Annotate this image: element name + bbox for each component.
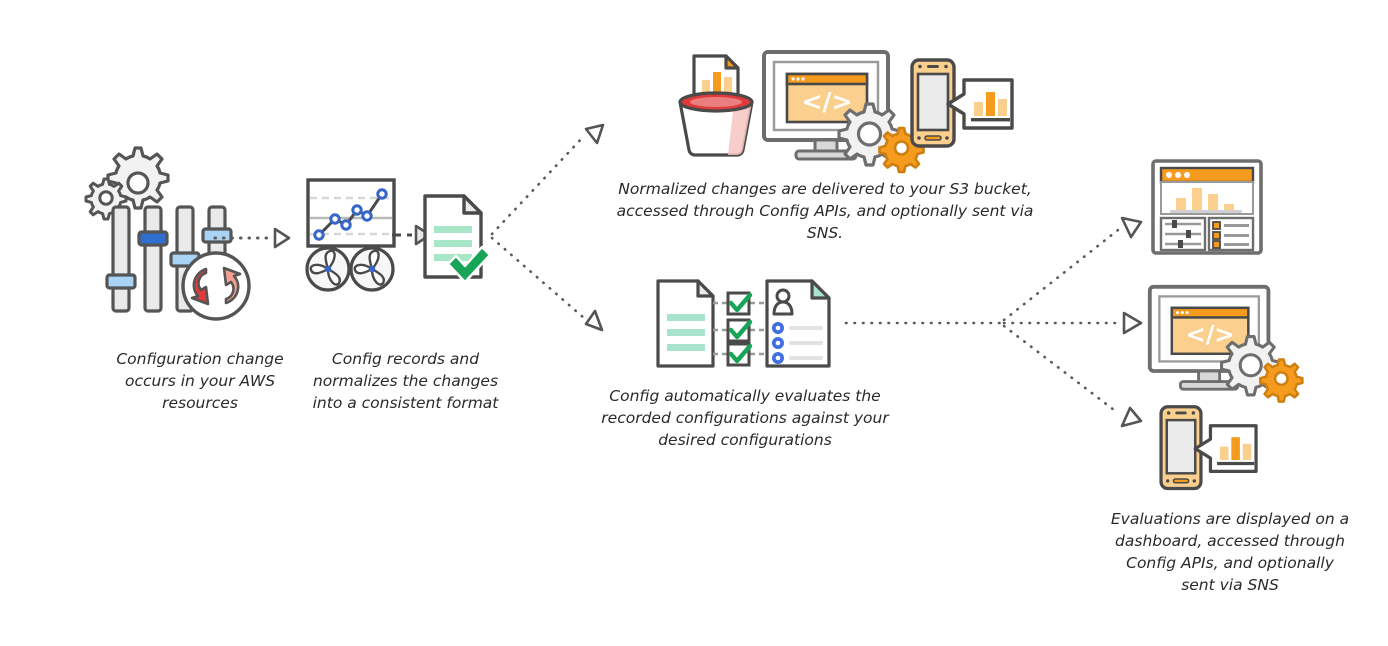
arrowhead-to-dashboard (1122, 218, 1141, 237)
arrow-change-to-records (215, 225, 295, 251)
evaluation-documents-icon (655, 278, 835, 370)
arrow-evaluation-to-branch (846, 316, 1016, 330)
diagram-canvas: Configuration change occurs in your AWS … (0, 0, 1388, 646)
dashboard-window-icon-group (1150, 158, 1265, 258)
evaluation-icon-group (655, 278, 835, 370)
arrowhead-to-monitor (1124, 313, 1141, 333)
checkbox-list-icon (728, 293, 750, 365)
branch-connectors-left (488, 118, 618, 338)
branch-connectors-right (1000, 200, 1145, 430)
dashboard-window-icon (1150, 158, 1265, 258)
arrowhead-to-evaluation (586, 311, 602, 330)
config-records-caption: Config records and normalizes the change… (288, 348, 523, 414)
slider-handle-2[interactable] (139, 232, 167, 245)
arrowhead-to-delivery (586, 125, 603, 143)
monitor-code-gears-icon: </> (760, 48, 920, 163)
document-checkmark-icon (420, 193, 490, 283)
monitor-code-gears-icon: </> (1145, 283, 1300, 393)
refresh-arrows-icon (183, 253, 249, 319)
fan-icon-1 (307, 248, 349, 290)
phone-chart-icon (908, 56, 1018, 156)
phone-chart-icon (1152, 403, 1267, 498)
s3-bucket-chart-icon (660, 50, 770, 160)
evaluation-caption: Config automatically evaluates the recor… (595, 385, 895, 451)
fan-icon-2 (351, 248, 393, 290)
delivery-targets-caption: Normalized changes are delivered to your… (600, 178, 1050, 244)
dashboard-title-bar (1161, 168, 1253, 182)
svg-text:</>: </> (1186, 320, 1235, 348)
svg-text:</>: </> (801, 87, 852, 116)
slider-handle-1[interactable] (107, 275, 135, 288)
dashboard-monitor-icon-group: </> (1145, 283, 1300, 393)
document-person-rules-icon (767, 281, 829, 366)
document-lines-icon (658, 281, 713, 366)
normalized-document-icon-group (420, 193, 490, 283)
dashboard-targets-caption: Evaluations are displayed on a dashboard… (1085, 508, 1375, 596)
dashboard-phone-icon-group (1152, 403, 1267, 498)
arrowhead-to-phone (1122, 408, 1141, 426)
